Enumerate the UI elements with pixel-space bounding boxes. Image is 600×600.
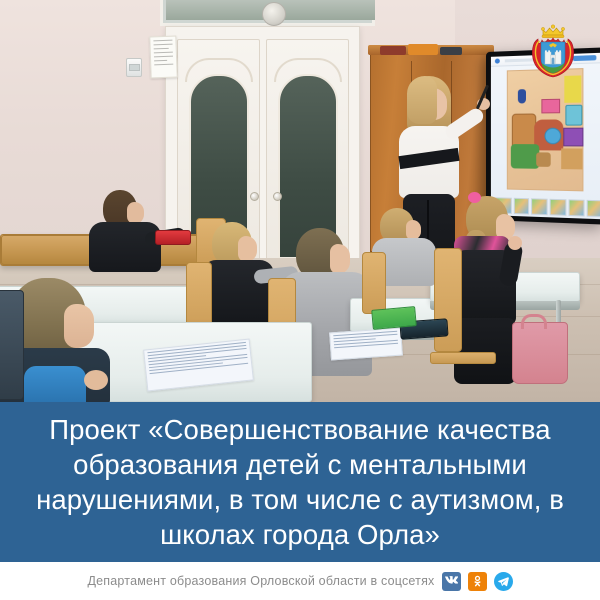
illus-tv <box>563 128 583 147</box>
thumbnail-item[interactable] <box>568 199 585 216</box>
illus-vase <box>518 89 526 103</box>
light-switch[interactable] <box>126 58 142 77</box>
student-hand <box>84 370 108 390</box>
student-hoodie <box>89 222 161 272</box>
clutter-box-1 <box>380 46 406 55</box>
chair-student-grey-hoodie[interactable] <box>362 252 386 314</box>
student-ear-face <box>330 244 350 274</box>
student-face <box>127 202 144 224</box>
ok-icon[interactable] <box>468 572 487 591</box>
classroom-photo <box>0 0 600 402</box>
footer-bar: Департамент образования Орловской област… <box>0 562 600 600</box>
illus-picture-frame <box>541 99 560 114</box>
illus-stool <box>536 152 550 167</box>
illus-pillow <box>544 128 561 145</box>
chair-foreground[interactable] <box>0 290 24 400</box>
wall-clock <box>262 2 286 26</box>
chair-seat-girl[interactable] <box>430 352 496 364</box>
door-knob-left[interactable] <box>250 192 259 201</box>
green-notebook[interactable] <box>371 306 417 330</box>
toolbar-dot-icon <box>495 59 500 64</box>
student-face <box>238 236 257 262</box>
red-pencil-case <box>155 230 191 245</box>
illus-kettle <box>565 105 582 126</box>
vk-icon[interactable] <box>442 572 461 591</box>
telegram-icon[interactable] <box>494 572 513 591</box>
clutter-box-3 <box>440 47 462 55</box>
social-media-poster: Проект «Совершенствование качества образ… <box>0 0 600 600</box>
whiteboard-illustration <box>507 68 584 191</box>
student-hand <box>508 236 522 250</box>
student-face <box>64 304 94 348</box>
student-shirt <box>24 366 86 402</box>
hair-tie <box>468 192 481 203</box>
thumbnail-item[interactable] <box>550 199 566 216</box>
student-face <box>406 220 421 240</box>
student-trousers <box>454 318 516 384</box>
thumbnail-item[interactable] <box>587 200 600 217</box>
clutter-box-2 <box>408 44 438 55</box>
worksheet-paper[interactable] <box>329 328 403 361</box>
pink-backpack[interactable] <box>512 322 568 384</box>
illus-table <box>561 148 582 169</box>
teacher-hair-front <box>407 76 437 124</box>
door-knob-right[interactable] <box>273 192 282 201</box>
door-notice-paper <box>149 36 177 79</box>
wardrobe-clutter <box>380 44 475 56</box>
footer-label: Департамент образования Орловской област… <box>87 574 434 588</box>
crown-icon <box>541 25 564 38</box>
illus-plant <box>511 144 539 169</box>
oryol-oblast-coat-of-arms <box>528 22 578 78</box>
project-title: Проект «Совершенствование качества образ… <box>0 412 600 552</box>
illus-wall-tile <box>564 75 581 102</box>
caption-band: Проект «Совершенствование качества образ… <box>0 402 600 562</box>
